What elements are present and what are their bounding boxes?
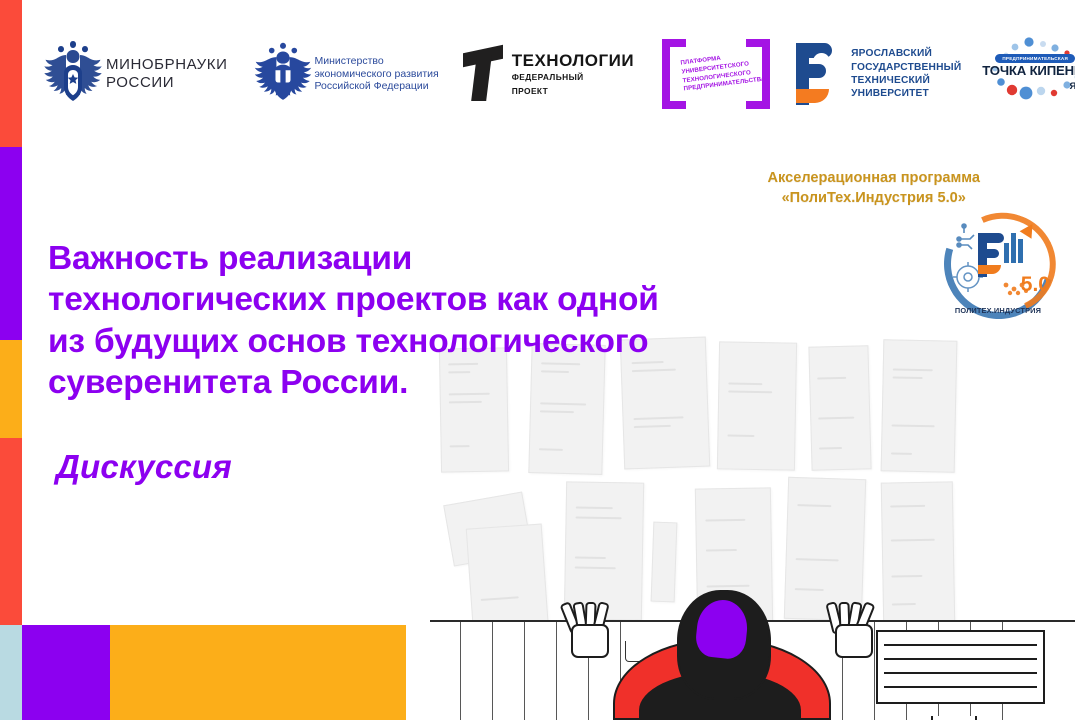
logo-minobrnauki-text: МИНОБРНАУКИ РОССИИ bbox=[106, 56, 227, 91]
logo-minobrnauki-line2: РОССИИ bbox=[106, 74, 227, 92]
paper-sheet bbox=[881, 339, 958, 473]
logo-tochka-kipeniya-line2: ЯГТУ bbox=[1069, 81, 1075, 92]
russian-coat-of-arms-icon bbox=[252, 38, 314, 110]
page-subtitle: Дискуссия bbox=[56, 448, 232, 486]
logo-minekonomrazvitiya: Министерство экономического развития Рос… bbox=[252, 38, 438, 110]
ystu-f-mark-icon bbox=[796, 43, 842, 105]
logo-ystu-line4: УНИВЕРСИТЕТ bbox=[851, 87, 961, 100]
logo-tochka-kipeniya-badge: ПРЕДПРИНИМАТЕЛЬСКАЯ bbox=[995, 54, 1075, 63]
logo-technologii-line3: ПРОЕКТ bbox=[512, 86, 634, 96]
logo-ystu: ЯРОСЛАВСКИЙ ГОСУДАРСТВЕННЫЙ ТЕХНИЧЕСКИЙ … bbox=[796, 43, 961, 105]
logo-minec-line2: экономического развития bbox=[314, 68, 438, 80]
logo-tochka-kipeniya: ПРЕДПРИНИМАТЕЛЬСКАЯ ТОЧКА КИПЕНИЯ ЯГТУ bbox=[981, 35, 1075, 113]
paper-sheet bbox=[651, 522, 678, 603]
logo-ystu-line3: ТЕХНИЧЕСКИЙ bbox=[851, 74, 961, 87]
politeh-version-label: 5.0 bbox=[1021, 274, 1050, 295]
logo-minekonomrazvitiya-text: Министерство экономического развития Рос… bbox=[314, 55, 438, 92]
logo-minobrnauki: МИНОБРНАУКИ РОССИИ bbox=[40, 37, 227, 111]
page-title: Важность реализации технологических прое… bbox=[48, 238, 868, 403]
program-caption: Акселерационная программа «ПолиТех.Индус… bbox=[767, 168, 980, 208]
bottom-bar-segment-orange bbox=[110, 625, 406, 720]
logo-minobrnauki-line1: МИНОБРНАУКИ bbox=[106, 56, 227, 74]
paper-sheet bbox=[881, 481, 955, 624]
bottom-bar-segment-purple bbox=[22, 625, 110, 720]
logo-technologii-line1: ТЕХНОЛОГИИ bbox=[512, 52, 634, 69]
logo-ystu-line2: ГОСУДАРСТВЕННЫЙ bbox=[851, 61, 961, 74]
keyboard bbox=[876, 630, 1045, 704]
left-bar-segment-purple bbox=[0, 147, 22, 340]
slide-root: МИНОБРНАУКИ РОССИИ Министерство экономич… bbox=[0, 0, 1075, 720]
left-accent-bar bbox=[0, 0, 22, 625]
right-hand bbox=[827, 596, 879, 658]
left-bar-segment-red-bottom bbox=[0, 438, 22, 625]
logo-minec-line1: Министерство bbox=[314, 55, 438, 67]
left-bar-segment-orange bbox=[0, 340, 22, 438]
partner-logo-strip: МИНОБРНАУКИ РОССИИ Министерство экономич… bbox=[22, 0, 1075, 148]
technologii-mark-icon bbox=[461, 47, 505, 101]
logo-platforma: ПЛАТФОРМА УНИВЕРСИТЕТСКОГО ТЕХНОЛОГИЧЕСК… bbox=[662, 39, 770, 109]
keyboard-stand bbox=[931, 716, 977, 720]
logo-ystu-line1: ЯРОСЛАВСКИЙ bbox=[851, 47, 961, 60]
left-bar-segment-red-top bbox=[0, 0, 22, 147]
logo-technologii-line2: ФЕДЕРАЛЬНЫЙ bbox=[512, 72, 634, 82]
logo-technologii-text: ТЕХНОЛОГИИ ФЕДЕРАЛЬНЫЙ ПРОЕКТ bbox=[512, 52, 634, 95]
person-figure bbox=[605, 592, 835, 720]
logo-tochka-kipeniya-line1: ТОЧКА КИПЕНИЯ bbox=[981, 63, 1075, 78]
logo-minec-line3: Российской Федерации bbox=[314, 80, 438, 92]
logo-ystu-text: ЯРОСЛАВСКИЙ ГОСУДАРСТВЕННЫЙ ТЕХНИЧЕСКИЙ … bbox=[851, 47, 961, 101]
politeh-caption: ПОЛИТЕХ.ИНДУСТРИЯ bbox=[938, 306, 1058, 315]
russian-coat-of-arms-icon bbox=[40, 37, 106, 111]
bottom-bar-segment-light-blue bbox=[0, 625, 22, 720]
logo-politeh-industria: 5.0 ПОЛИТЕХ.ИНДУСТРИЯ bbox=[938, 205, 1058, 317]
logo-technologii: ТЕХНОЛОГИИ ФЕДЕРАЛЬНЫЙ ПРОЕКТ bbox=[461, 47, 634, 101]
left-hand bbox=[563, 596, 615, 658]
